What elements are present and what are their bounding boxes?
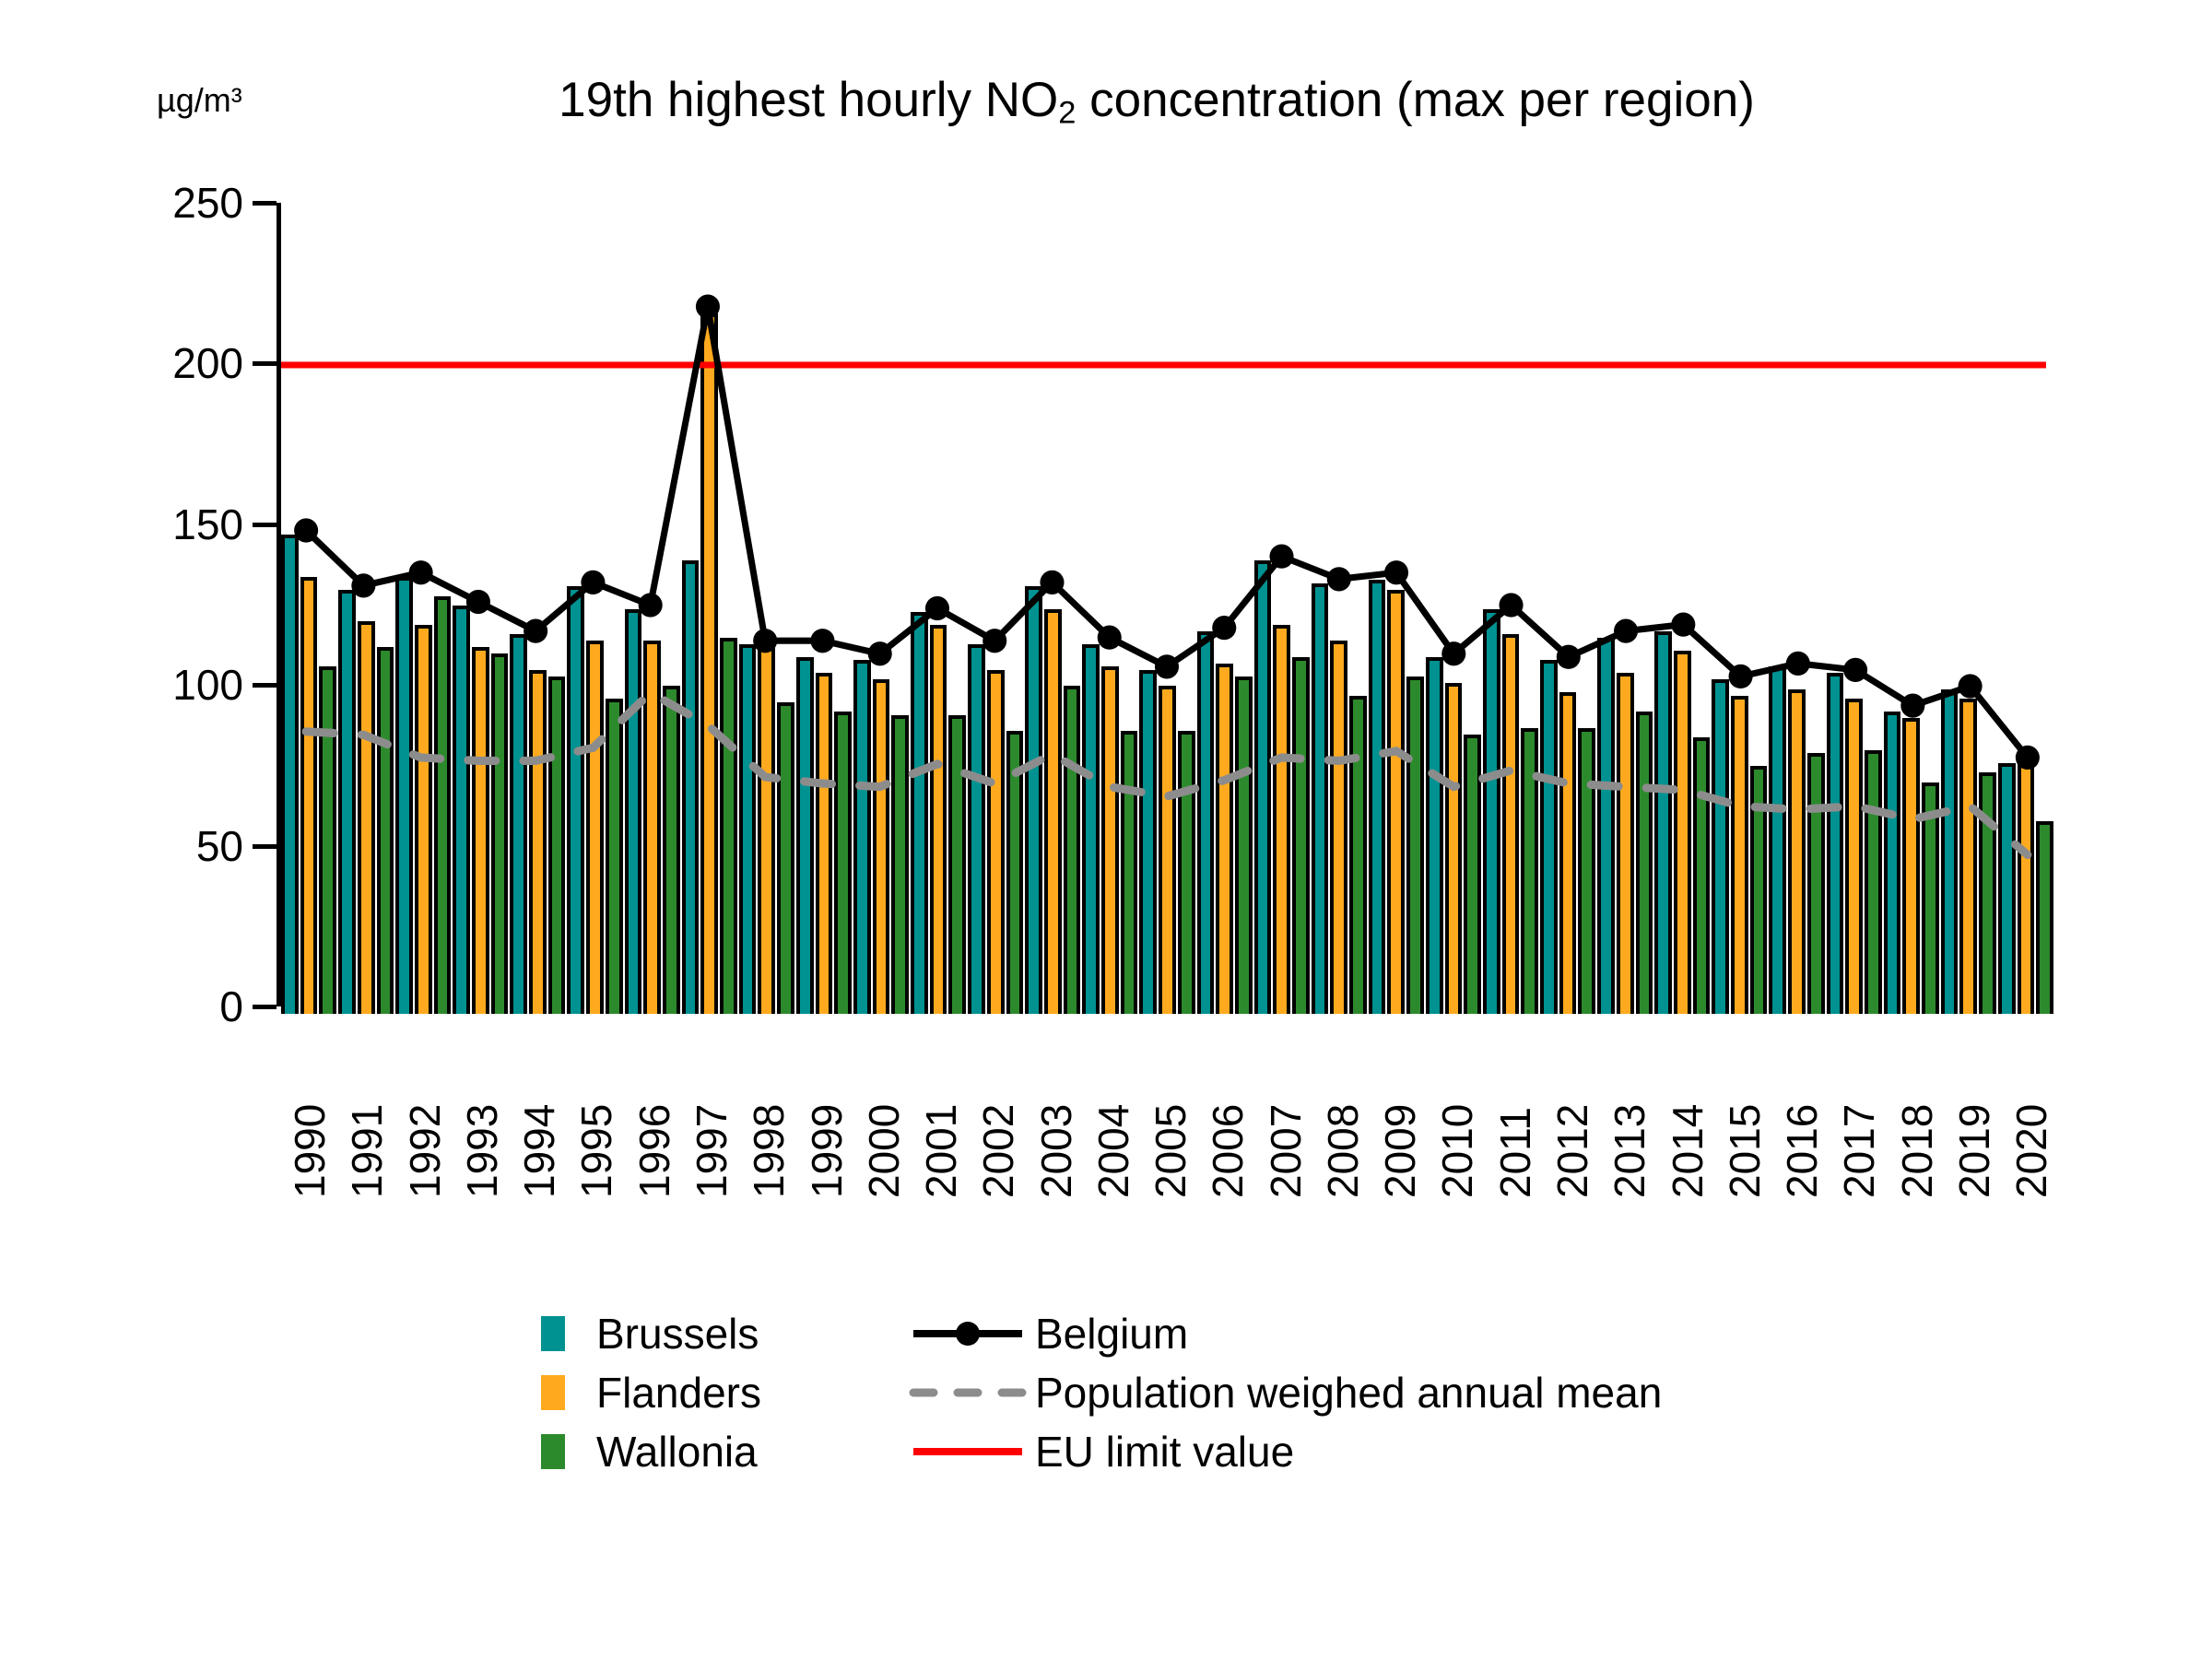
bar-wallonia[interactable]	[1349, 696, 1367, 1014]
bar-group[interactable]	[1483, 203, 1540, 1014]
bar-wallonia[interactable]	[1178, 731, 1195, 1014]
y-axis-tick-label: 150	[172, 500, 243, 549]
x-axis-label-cell: 1993	[453, 1014, 511, 1198]
x-axis-label-cell: 2018	[1888, 1014, 1945, 1198]
x-axis-label: 2018	[1896, 1014, 1938, 1198]
bar-group[interactable]	[1769, 203, 1826, 1014]
bar-flanders[interactable]	[816, 673, 833, 1014]
bar-brussels[interactable]	[796, 657, 814, 1014]
bar-flanders[interactable]	[987, 670, 1005, 1014]
bar-brussels[interactable]	[911, 612, 928, 1014]
bar-wallonia[interactable]	[491, 653, 509, 1014]
x-axis-label: 1992	[404, 1014, 446, 1198]
chart-title-subscript: 2	[1058, 96, 1076, 131]
bar-group[interactable]	[911, 203, 968, 1014]
bar-flanders[interactable]	[643, 641, 661, 1014]
bar-brussels[interactable]	[1369, 580, 1386, 1014]
bar-wallonia[interactable]	[319, 666, 336, 1014]
bar-brussels[interactable]	[1540, 660, 1558, 1014]
bar-flanders[interactable]	[1617, 673, 1634, 1014]
x-axis-label: 1999	[806, 1014, 848, 1198]
x-axis-label: 1996	[633, 1014, 676, 1198]
bar-group[interactable]	[1654, 203, 1712, 1014]
bar-brussels[interactable]	[968, 644, 985, 1014]
x-axis-label: 2009	[1379, 1014, 1421, 1198]
x-axis-label-cell: 2007	[1257, 1014, 1314, 1198]
bar-wallonia[interactable]	[1464, 735, 1481, 1014]
bar-flanders[interactable]	[415, 625, 432, 1014]
bar-group[interactable]	[739, 203, 796, 1014]
bar-brussels[interactable]	[682, 560, 700, 1014]
x-axis-label-cell: 2001	[912, 1014, 970, 1198]
bar-group[interactable]	[682, 203, 739, 1014]
x-axis-label: 2013	[1608, 1014, 1651, 1198]
bar-flanders[interactable]	[1502, 634, 1520, 1014]
x-axis-label-cell: 2008	[1314, 1014, 1371, 1198]
bar-wallonia[interactable]	[1578, 728, 1595, 1014]
bar-flanders[interactable]	[1273, 625, 1290, 1014]
bar-wallonia[interactable]	[1865, 750, 1882, 1014]
bar-wallonia[interactable]	[720, 638, 737, 1014]
x-axis-label-cell: 2003	[1027, 1014, 1084, 1198]
bar-flanders[interactable]	[1845, 699, 1863, 1014]
legend-label-wallonia: Wallonia	[596, 1427, 900, 1477]
y-axis-tick	[253, 523, 276, 527]
x-axis-label: 1997	[690, 1014, 733, 1198]
legend-swatch-flanders	[541, 1375, 565, 1410]
bar-brussels[interactable]	[1197, 631, 1215, 1014]
y-axis-tick	[253, 201, 276, 206]
bar-brussels[interactable]	[1483, 609, 1500, 1014]
bar-flanders[interactable]	[1445, 683, 1463, 1014]
bar-flanders[interactable]	[758, 647, 775, 1014]
bar-wallonia[interactable]	[1807, 753, 1825, 1014]
bar-group[interactable]	[625, 203, 682, 1014]
bar-flanders[interactable]	[1387, 590, 1405, 1014]
bar-flanders[interactable]	[1216, 664, 1233, 1014]
bar-group[interactable]	[853, 203, 911, 1014]
legend-label-flanders: Flanders	[596, 1368, 900, 1418]
x-axis-label: 1998	[747, 1014, 790, 1198]
x-axis-label-cell: 2004	[1085, 1014, 1142, 1198]
bar-wallonia[interactable]	[1979, 772, 1996, 1014]
bar-wallonia[interactable]	[377, 647, 394, 1014]
bar-brussels[interactable]	[625, 609, 642, 1014]
bar-flanders[interactable]	[1044, 609, 1062, 1014]
bar-brussels[interactable]	[1941, 689, 1959, 1014]
bar-flanders[interactable]	[1101, 666, 1119, 1014]
bar-wallonia[interactable]	[1292, 657, 1310, 1014]
bar-group[interactable]	[1540, 203, 1597, 1014]
legend-swatch-wallonia	[541, 1434, 565, 1469]
bar-brussels[interactable]	[1827, 673, 1844, 1014]
legend-marker-belgium	[908, 1315, 1028, 1352]
legend-marker-popmean	[908, 1374, 1028, 1411]
bar-wallonia[interactable]	[1750, 766, 1768, 1014]
bar-group[interactable]	[1369, 203, 1426, 1014]
legend-label-belgium: Belgium	[1035, 1309, 1662, 1359]
x-axis-label: 2014	[1666, 1014, 1709, 1198]
legend-label-popmean: Population weighed annual mean	[1035, 1368, 1662, 1418]
bar-flanders[interactable]	[358, 621, 375, 1014]
chart-title-suffix: concentration (max per region)	[1076, 73, 1754, 127]
x-axis-label: 2015	[1724, 1014, 1766, 1198]
bar-brussels[interactable]	[1654, 631, 1672, 1014]
bar-flanders[interactable]	[529, 670, 547, 1014]
bar-brussels[interactable]	[853, 660, 871, 1014]
x-axis-label: 1994	[518, 1014, 560, 1198]
bar-wallonia[interactable]	[1121, 731, 1138, 1014]
chart-title-prefix: 19th highest hourly NO	[559, 73, 1058, 127]
bar-brussels[interactable]	[1082, 644, 1100, 1014]
bar-brussels[interactable]	[510, 634, 527, 1014]
bar-group[interactable]	[968, 203, 1025, 1014]
x-axis-label-cell: 2016	[1773, 1014, 1830, 1198]
bar-flanders[interactable]	[1159, 686, 1176, 1014]
x-axis-label-cell: 2010	[1429, 1014, 1486, 1198]
x-axis-label-cell: 2012	[1544, 1014, 1601, 1198]
x-axis-label: 2008	[1322, 1014, 1364, 1198]
x-axis-label: 1993	[461, 1014, 503, 1198]
bar-groups	[281, 203, 2055, 1014]
x-axis-label: 2001	[920, 1014, 962, 1198]
x-axis-label-cell: 1992	[396, 1014, 453, 1198]
chart-title: 19th highest hourly NO2 concentration (m…	[0, 72, 2212, 132]
x-axis-label-cell: 1990	[281, 1014, 338, 1198]
bar-flanders[interactable]	[2018, 759, 2035, 1014]
bar-flanders[interactable]	[700, 313, 718, 1014]
bar-group[interactable]	[338, 203, 395, 1014]
bar-wallonia[interactable]	[1636, 712, 1653, 1014]
bar-group[interactable]	[1254, 203, 1312, 1014]
y-axis-tick-label: 200	[172, 338, 243, 388]
y-axis-tick	[253, 844, 276, 849]
bar-group[interactable]	[1827, 203, 1884, 1014]
bar-group[interactable]	[796, 203, 853, 1014]
bar-flanders[interactable]	[1788, 689, 1806, 1014]
bar-wallonia[interactable]	[891, 715, 909, 1014]
y-axis-tick	[253, 1005, 276, 1009]
bar-group[interactable]	[1312, 203, 1369, 1014]
y-axis-tick	[253, 683, 276, 688]
x-axis-label: 2011	[1494, 1014, 1536, 1198]
x-axis-label-cell: 1997	[683, 1014, 740, 1198]
x-axis-label-cell: 2019	[1946, 1014, 2003, 1198]
bar-flanders[interactable]	[300, 577, 318, 1014]
x-axis-label: 2010	[1436, 1014, 1478, 1198]
bar-brussels[interactable]	[1998, 763, 2016, 1014]
bar-wallonia[interactable]	[606, 699, 623, 1014]
x-axis-label: 2004	[1092, 1014, 1135, 1198]
bar-group[interactable]	[453, 203, 510, 1014]
bar-group[interactable]	[1082, 203, 1139, 1014]
bar-wallonia[interactable]	[948, 715, 966, 1014]
x-axis-label: 2006	[1206, 1014, 1249, 1198]
legend-swatch-brussels	[541, 1316, 565, 1351]
bar-flanders[interactable]	[1959, 699, 1977, 1014]
bar-group[interactable]	[1197, 203, 1254, 1014]
bar-brussels[interactable]	[1139, 670, 1157, 1014]
bar-group[interactable]	[510, 203, 567, 1014]
x-axis-label: 2003	[1035, 1014, 1077, 1198]
x-axis-label: 1991	[346, 1014, 388, 1198]
x-axis-label: 2017	[1838, 1014, 1880, 1198]
bar-brussels[interactable]	[338, 590, 356, 1014]
y-axis-tick-label: 50	[196, 821, 243, 871]
bar-brussels[interactable]	[281, 535, 299, 1014]
bar-group[interactable]	[1998, 203, 2055, 1014]
x-axis-label-cell: 1995	[568, 1014, 625, 1198]
bar-brussels[interactable]	[1769, 666, 1786, 1014]
bar-flanders[interactable]	[930, 625, 947, 1014]
bar-brussels[interactable]	[1426, 657, 1443, 1014]
bar-wallonia[interactable]	[1693, 737, 1711, 1014]
bar-group[interactable]	[281, 203, 338, 1014]
bar-wallonia[interactable]	[777, 702, 794, 1014]
x-axis-label: 2002	[977, 1014, 1019, 1198]
x-axis-label-cell: 2005	[1142, 1014, 1199, 1198]
bar-flanders[interactable]	[1731, 696, 1748, 1014]
bar-brussels[interactable]	[1312, 583, 1329, 1014]
plot-area: 050100150200250	[276, 203, 2055, 1014]
bar-group[interactable]	[1025, 203, 1082, 1014]
bar-brussels[interactable]	[1597, 638, 1615, 1014]
bar-brussels[interactable]	[739, 644, 757, 1014]
bar-wallonia[interactable]	[548, 677, 566, 1014]
chart-legend: BrusselsBelgiumFlandersPopulation weighe…	[530, 1304, 1662, 1481]
x-axis-label-cell: 2017	[1830, 1014, 1888, 1198]
x-axis-label-cell: 2000	[855, 1014, 912, 1198]
bar-brussels[interactable]	[453, 606, 470, 1014]
bar-wallonia[interactable]	[1235, 677, 1253, 1014]
legend-marker-eulimit	[908, 1433, 1028, 1470]
bar-group[interactable]	[1884, 203, 1941, 1014]
x-axis-label: 1990	[288, 1014, 331, 1198]
bar-group[interactable]	[1139, 203, 1196, 1014]
bar-flanders[interactable]	[873, 679, 890, 1014]
x-axis-label-cell: 2009	[1371, 1014, 1429, 1198]
bar-flanders[interactable]	[1330, 641, 1347, 1014]
bar-wallonia[interactable]	[2036, 821, 2053, 1014]
bar-flanders[interactable]	[1902, 718, 1920, 1014]
bar-group[interactable]	[567, 203, 624, 1014]
x-axis-label-cell: 1991	[338, 1014, 395, 1198]
x-axis-label-cell: 1994	[511, 1014, 568, 1198]
bar-flanders[interactable]	[586, 641, 604, 1014]
bar-flanders[interactable]	[472, 647, 489, 1014]
bar-brussels[interactable]	[567, 586, 584, 1014]
x-axis-label-cell: 2015	[1716, 1014, 1773, 1198]
bar-group[interactable]	[1597, 203, 1654, 1014]
y-axis-tick-label: 100	[172, 660, 243, 710]
bar-group[interactable]	[1941, 203, 1998, 1014]
x-axis-label-cell: 1998	[740, 1014, 797, 1198]
bar-brussels[interactable]	[1884, 712, 1901, 1014]
bar-wallonia[interactable]	[434, 596, 452, 1014]
x-axis-label: 2005	[1149, 1014, 1192, 1198]
x-axis-label-cell: 2013	[1601, 1014, 1658, 1198]
x-axis-label-cell: 2002	[970, 1014, 1027, 1198]
x-axis-label: 2007	[1265, 1014, 1307, 1198]
x-axis-label: 1995	[575, 1014, 618, 1198]
x-axis-label-cell: 1996	[626, 1014, 683, 1198]
bar-brussels[interactable]	[1025, 586, 1042, 1014]
y-axis-tick-label: 250	[172, 178, 243, 228]
x-axis-label: 2000	[863, 1014, 905, 1198]
x-axis-label-cell: 2014	[1658, 1014, 1715, 1198]
bar-wallonia[interactable]	[1064, 686, 1081, 1014]
bar-brussels[interactable]	[1712, 679, 1729, 1014]
bar-group[interactable]	[1712, 203, 1769, 1014]
x-axis-label-cell: 2006	[1199, 1014, 1256, 1198]
x-axis-label: 2019	[1953, 1014, 1995, 1198]
chart-root: µg/m³ 19th highest hourly NO2 concentrat…	[0, 0, 2212, 1659]
bar-flanders[interactable]	[1559, 692, 1577, 1014]
legend-label-brussels: Brussels	[596, 1309, 900, 1359]
y-axis-tick-label: 0	[219, 982, 243, 1031]
bar-wallonia[interactable]	[834, 712, 852, 1014]
y-axis-tick	[253, 361, 276, 366]
x-axis-label: 2016	[1781, 1014, 1823, 1198]
legend-label-eulimit: EU limit value	[1035, 1427, 1662, 1477]
bar-wallonia[interactable]	[663, 686, 680, 1014]
bar-group[interactable]	[1426, 203, 1483, 1014]
x-axis-label: 2020	[2010, 1014, 2053, 1198]
bar-wallonia[interactable]	[1006, 731, 1024, 1014]
x-axis-label: 2012	[1551, 1014, 1594, 1198]
bar-wallonia[interactable]	[1521, 728, 1538, 1014]
bar-wallonia[interactable]	[1406, 677, 1424, 1014]
bar-group[interactable]	[395, 203, 453, 1014]
x-axis-label-cell: 1999	[797, 1014, 854, 1198]
bar-brussels[interactable]	[395, 577, 413, 1014]
x-axis-label-cell: 2011	[1487, 1014, 1544, 1198]
x-axis-labels: 1990199119921993199419951996199719981999…	[281, 1014, 2060, 1198]
bar-flanders[interactable]	[1674, 651, 1691, 1014]
bar-brussels[interactable]	[1254, 560, 1272, 1014]
bar-wallonia[interactable]	[1922, 782, 1939, 1014]
x-axis-label-cell: 2020	[2003, 1014, 2060, 1198]
